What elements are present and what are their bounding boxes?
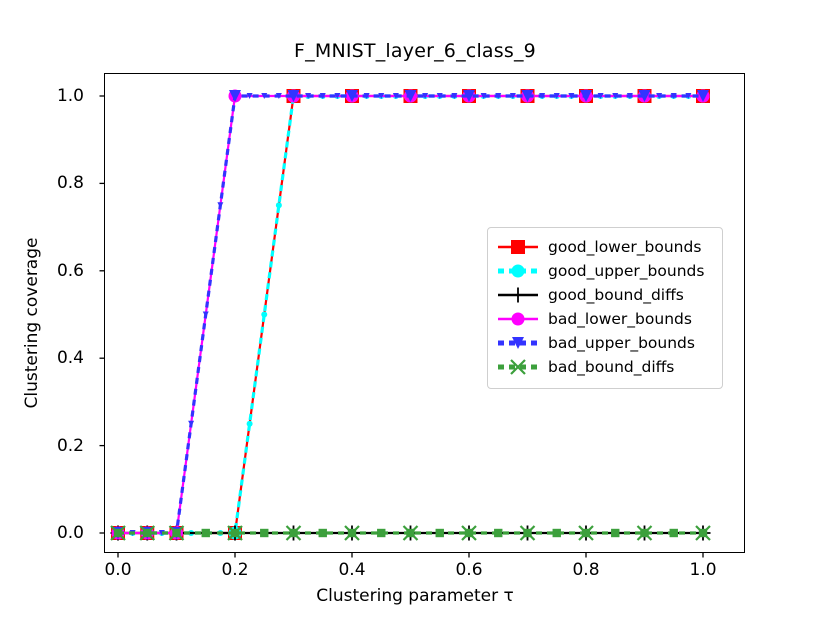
legend-item-label: bad_bound_diffs [548,358,674,376]
data-point-marker [247,421,253,427]
data-point-marker [203,312,209,318]
legend-item-bad_lower_bounds[interactable]: bad_lower_bounds [496,307,714,331]
data-point-marker [511,288,526,303]
data-point-marker [188,421,194,427]
legend-marker-icon [496,236,540,258]
data-point-marker [260,529,268,537]
legend-marker-icon [496,284,540,306]
data-point-marker [512,265,525,278]
data-point-marker [494,529,502,537]
data-point-marker [377,529,385,537]
x-tick-label: 0.8 [546,560,626,580]
legend-marker-icon [496,260,540,282]
legend: good_lower_boundsgood_upper_boundsgood_b… [487,227,723,389]
legend-marker-icon [496,356,540,378]
y-tick-label: 1.0 [24,86,84,106]
legend-item-label: good_upper_bounds [548,262,704,280]
data-point-marker [436,529,444,537]
legend-item-good_lower_bounds[interactable]: good_lower_bounds [496,235,714,259]
data-point-marker [511,240,525,254]
legend-item-bad_bound_diffs[interactable]: bad_bound_diffs [496,355,714,379]
data-point-marker [319,529,327,537]
y-axis-label: Clustering coverage [22,113,42,533]
data-point-marker [276,202,282,208]
legend-marker-icon [496,332,540,354]
data-point-marker [512,313,525,326]
x-tick-label: 1.0 [663,560,743,580]
data-point-marker [611,529,619,537]
data-point-marker [553,529,561,537]
legend-item-bad_upper_bounds[interactable]: bad_upper_bounds [496,331,714,355]
data-point-marker [670,529,678,537]
x-axis-label: Clustering parameter τ [0,586,830,606]
legend-marker-icon [496,308,540,330]
legend-item-label: good_bound_diffs [548,286,684,304]
legend-item-label: bad_lower_bounds [548,310,692,328]
data-point-marker [217,202,223,208]
x-tick-label: 0.2 [195,560,275,580]
x-tick-label: 0.4 [312,560,392,580]
data-point-marker [202,529,210,537]
x-tick-label: 0.6 [429,560,509,580]
legend-item-label: good_lower_bounds [548,238,701,256]
figure: F_MNIST_layer_6_class_9 0.00.20.40.60.81… [0,0,830,623]
x-tick-label: 0.0 [78,560,158,580]
legend-item-good_bound_diffs[interactable]: good_bound_diffs [496,283,714,307]
legend-item-label: bad_upper_bounds [548,334,695,352]
data-point-marker [261,312,267,318]
legend-item-good_upper_bounds[interactable]: good_upper_bounds [496,259,714,283]
